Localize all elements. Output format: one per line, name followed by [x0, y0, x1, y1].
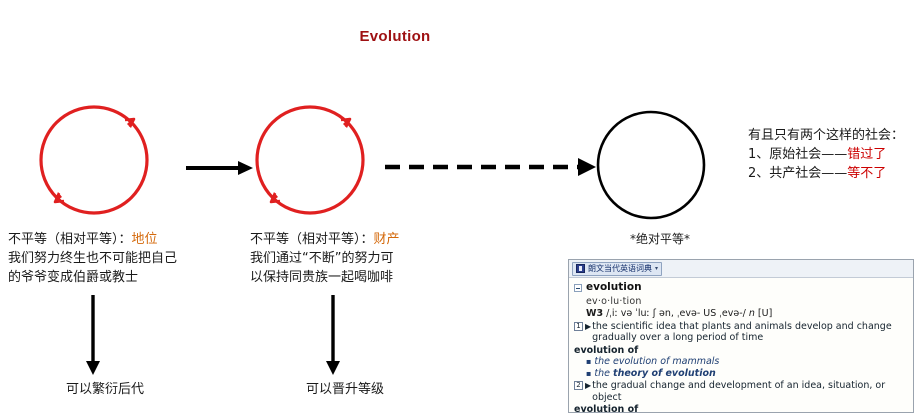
stage1-caption-accent: 地位 [132, 232, 158, 247]
bullet-icon: ▪ [586, 357, 591, 366]
outcome-item-1-accent: 错过了 [847, 147, 886, 162]
bullet-icon: ▪ [586, 369, 591, 378]
stage2-caption-line1-main: 不平等（相对平等）： [250, 232, 374, 247]
arrow-stage1-to-stage2 [186, 161, 253, 175]
arrow-stage2-to-stage3-dashed [385, 158, 596, 176]
dictionary-headword-row[interactable]: evolution [574, 282, 908, 294]
stage1-caption: 不平等（相对平等）：地位 我们努力终生也不可能把自己 的爷爷变成伯爵或教士 [8, 230, 177, 287]
dictionary-popup[interactable]: 朗文当代英语词典 ▾ evolution ev‧o‧lu‧tion W3 /ˌi… [568, 259, 914, 413]
dictionary-part-of-speech: n [749, 308, 755, 319]
outcome-item-1-label: 1、原始社会—— [748, 147, 847, 162]
dictionary-pronunciation: /ˌiː və ˈluː ʃ ən, ˌevə- US ˌevə-/ [606, 308, 746, 319]
sense-example-text: the evolution of mammals [594, 356, 719, 367]
arrow-stage1-result [86, 295, 100, 375]
stage2-cycle-circle [257, 107, 363, 213]
sense-collocation: evolution of [574, 345, 908, 357]
sense-definition: the scientific idea that plants and anim… [592, 321, 908, 344]
dictionary-grammar-code: [U] [758, 308, 772, 319]
outcome-item-2-accent: 等不了 [847, 166, 886, 181]
stage3-final-circle [598, 112, 704, 218]
outcome-list: 有且只有两个这样的社会： 1、原始社会——错过了 2、共产社会——等不了 [748, 126, 904, 183]
chevron-down-icon[interactable]: ▾ [655, 263, 658, 275]
outcome-item-2-label: 2、共产社会—— [748, 166, 847, 181]
dictionary-source-tab[interactable]: 朗文当代英语词典 ▾ [572, 262, 662, 276]
dictionary-sense: 1 ▶ the scientific idea that plants and … [574, 321, 908, 344]
outcome-heading: 有且只有两个这样的社会： [748, 126, 904, 145]
stage2-caption-line3: 以保持同贵族一起喝咖啡 [250, 268, 400, 287]
dictionary-book-icon [576, 264, 585, 273]
stage2-caption-line2: 我们通过“不断”的努力可 [250, 249, 400, 268]
sense-example-emphasis: theory of evolution [613, 368, 716, 379]
sense-arrow-icon: ▶ [585, 380, 591, 391]
stage2-caption-line1: 不平等（相对平等）：财产 [250, 230, 400, 249]
dictionary-sense: 2 ▶ the gradual change and development o… [574, 380, 908, 403]
outcome-item-2: 2、共产社会——等不了 [748, 164, 904, 183]
dictionary-entry: evolution ev‧o‧lu‧tion W3 /ˌiː və ˈluː ʃ… [569, 278, 913, 413]
sense-number: 1 [574, 322, 583, 331]
arrow-stage2-result [326, 295, 340, 375]
stage1-result-label: 可以繁衍后代 [25, 378, 185, 397]
dictionary-frequency-badge: W3 [586, 308, 603, 319]
sense-number: 2 [574, 381, 583, 390]
dictionary-titlebar: 朗文当代英语词典 ▾ [569, 260, 913, 278]
stage2-caption: 不平等（相对平等）：财产 我们通过“不断”的努力可 以保持同贵族一起喝咖啡 [250, 230, 400, 287]
sense-arrow-icon: ▶ [585, 321, 591, 332]
stage2-caption-accent: 财产 [374, 232, 400, 247]
outcome-item-1: 1、原始社会——错过了 [748, 145, 904, 164]
dictionary-syllabification: ev‧o‧lu‧tion [586, 296, 908, 308]
sense-example-text: the [594, 368, 613, 379]
stage1-caption-line3: 的爷爷变成伯爵或教士 [8, 268, 177, 287]
dictionary-headword: evolution [586, 282, 642, 294]
sense-example: ▪the evolution of mammals [586, 356, 908, 368]
stage1-caption-line2: 我们努力终生也不可能把自己 [8, 249, 177, 268]
stage2-result-label: 可以晋升等级 [265, 378, 425, 397]
stage1-caption-line1-main: 不平等（相对平等）： [8, 232, 132, 247]
dictionary-phonetics-row: W3 /ˌiː və ˈluː ʃ ən, ˌevə- US ˌevə-/ n … [586, 308, 908, 320]
stage3-caption: *绝对平等* [590, 230, 730, 247]
stage1-caption-line1: 不平等（相对平等）：地位 [8, 230, 177, 249]
page-title: Evolution [0, 28, 790, 45]
sense-collocation: evolution of [574, 404, 908, 413]
stage1-cycle-circle [41, 107, 147, 213]
sense-definition: the gradual change and development of an… [592, 380, 908, 403]
dictionary-tab-label: 朗文当代英语词典 [588, 263, 652, 275]
expander-icon[interactable] [574, 284, 582, 292]
sense-example: ▪the theory of evolution [586, 368, 908, 380]
